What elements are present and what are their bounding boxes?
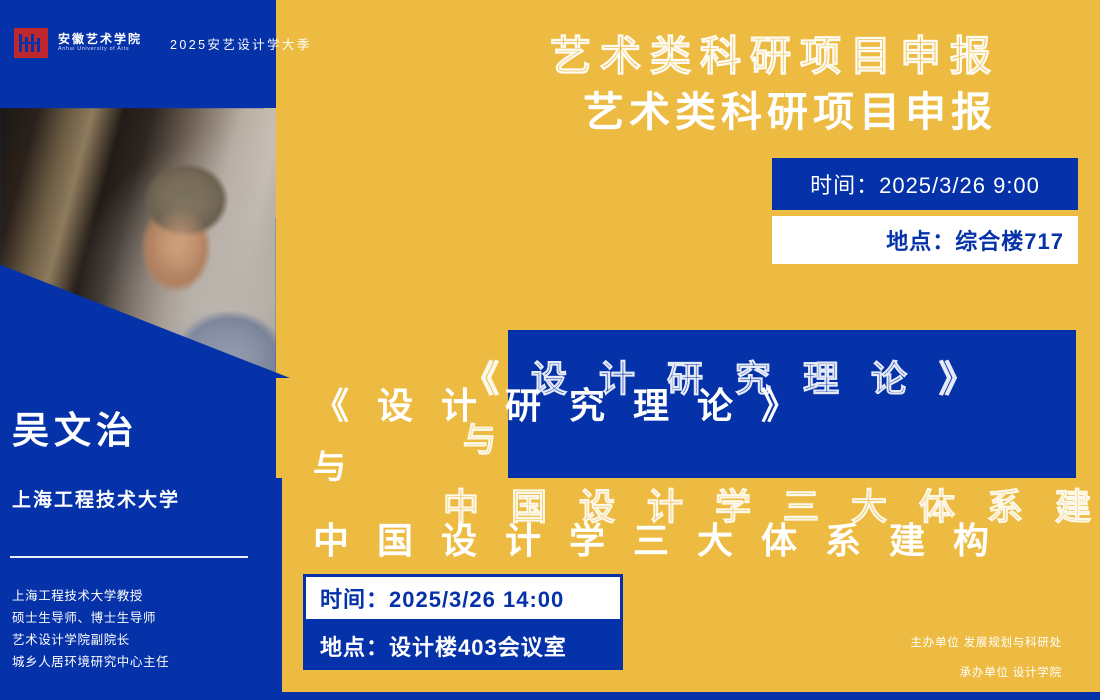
session-two-time-box: 时间：2025/3/26 14:00 xyxy=(303,574,623,622)
brand-text: 安徽艺术学院 Anhui University of Arts xyxy=(58,33,142,53)
university-name-cn: 安徽艺术学院 xyxy=(58,33,142,46)
gold-diagonal-wedge xyxy=(264,108,564,328)
session-one-place-box: 地点：综合楼717 xyxy=(772,216,1078,264)
credential-line: 艺术设计学院副院长 xyxy=(12,629,262,651)
headline-outline: 艺术类科研项目申报 xyxy=(550,22,1000,82)
lecture-title-line3: 中 国 设 计 学 三 大 体 系 建 构 xyxy=(313,512,998,564)
host-organization: 主办单位 发展规划与科研处 xyxy=(910,634,1062,650)
organizing-unit: 承办单位 设计学院 xyxy=(960,664,1062,680)
session-one-place-text: 地点：综合楼717 xyxy=(886,224,1064,256)
vertical-blue-rule xyxy=(276,478,282,700)
speaker-credentials: 上海工程技术大学教授 硕士生导师、博士生导师 艺术设计学院副院长 城乡人居环境研… xyxy=(12,585,262,673)
credential-line: 城乡人居环境研究中心主任 xyxy=(12,651,262,673)
session-one-time-text: 时间：2025/3/26 9:00 xyxy=(810,168,1040,200)
session-one-time-box: 时间：2025/3/26 9:00 xyxy=(772,158,1078,210)
university-seal-icon xyxy=(14,28,48,58)
right-gold-strip xyxy=(1076,0,1100,700)
credential-line: 硕士生导师、博士生导师 xyxy=(12,607,262,629)
speaker-organization: 上海工程技术大学 xyxy=(12,485,180,512)
brand-lockup: 安徽艺术学院 Anhui University of Arts 2025安艺设计… xyxy=(14,28,312,58)
lecture-title-line2: 与 xyxy=(313,440,352,488)
speaker-name: 吴文治 xyxy=(12,400,138,454)
session-two-place-box: 地点：设计楼403会议室 xyxy=(303,622,623,670)
session-two-time-text: 时间：2025/3/26 14:00 xyxy=(320,582,564,614)
poster-canvas: 安徽艺术学院 Anhui University of Arts 2025安艺设计… xyxy=(0,0,1100,700)
bottom-blue-rule xyxy=(0,692,1100,700)
season-label: 2025安艺设计学大季 xyxy=(170,34,312,53)
credential-line: 上海工程技术大学教授 xyxy=(12,585,262,607)
page-title: 艺术类科研项目申报 xyxy=(583,78,997,138)
speaker-divider xyxy=(10,556,248,558)
lecture-title-line1: 《 设 计 研 究 理 论 》 xyxy=(313,377,806,429)
session-two-place-text: 地点：设计楼403会议室 xyxy=(320,630,567,662)
university-name-en: Anhui University of Arts xyxy=(58,46,142,53)
